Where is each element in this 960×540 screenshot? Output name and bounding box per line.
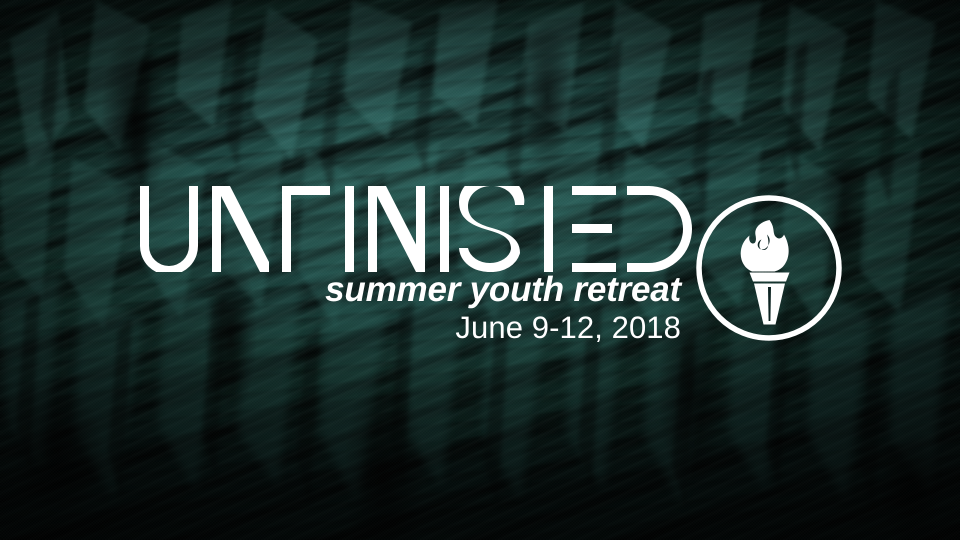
tagline-summer-youth-retreat: summer youth retreat xyxy=(140,270,681,310)
poster-canvas: summer youth retreat June 9-12, 2018 xyxy=(0,0,960,540)
brand-lockup: summer youth retreat June 9-12, 2018 xyxy=(140,186,846,346)
torch-in-circle-icon xyxy=(693,192,845,344)
event-dates: June 9-12, 2018 xyxy=(140,310,681,346)
wordmark-unfinished xyxy=(140,186,696,272)
torch-icon xyxy=(741,220,790,325)
